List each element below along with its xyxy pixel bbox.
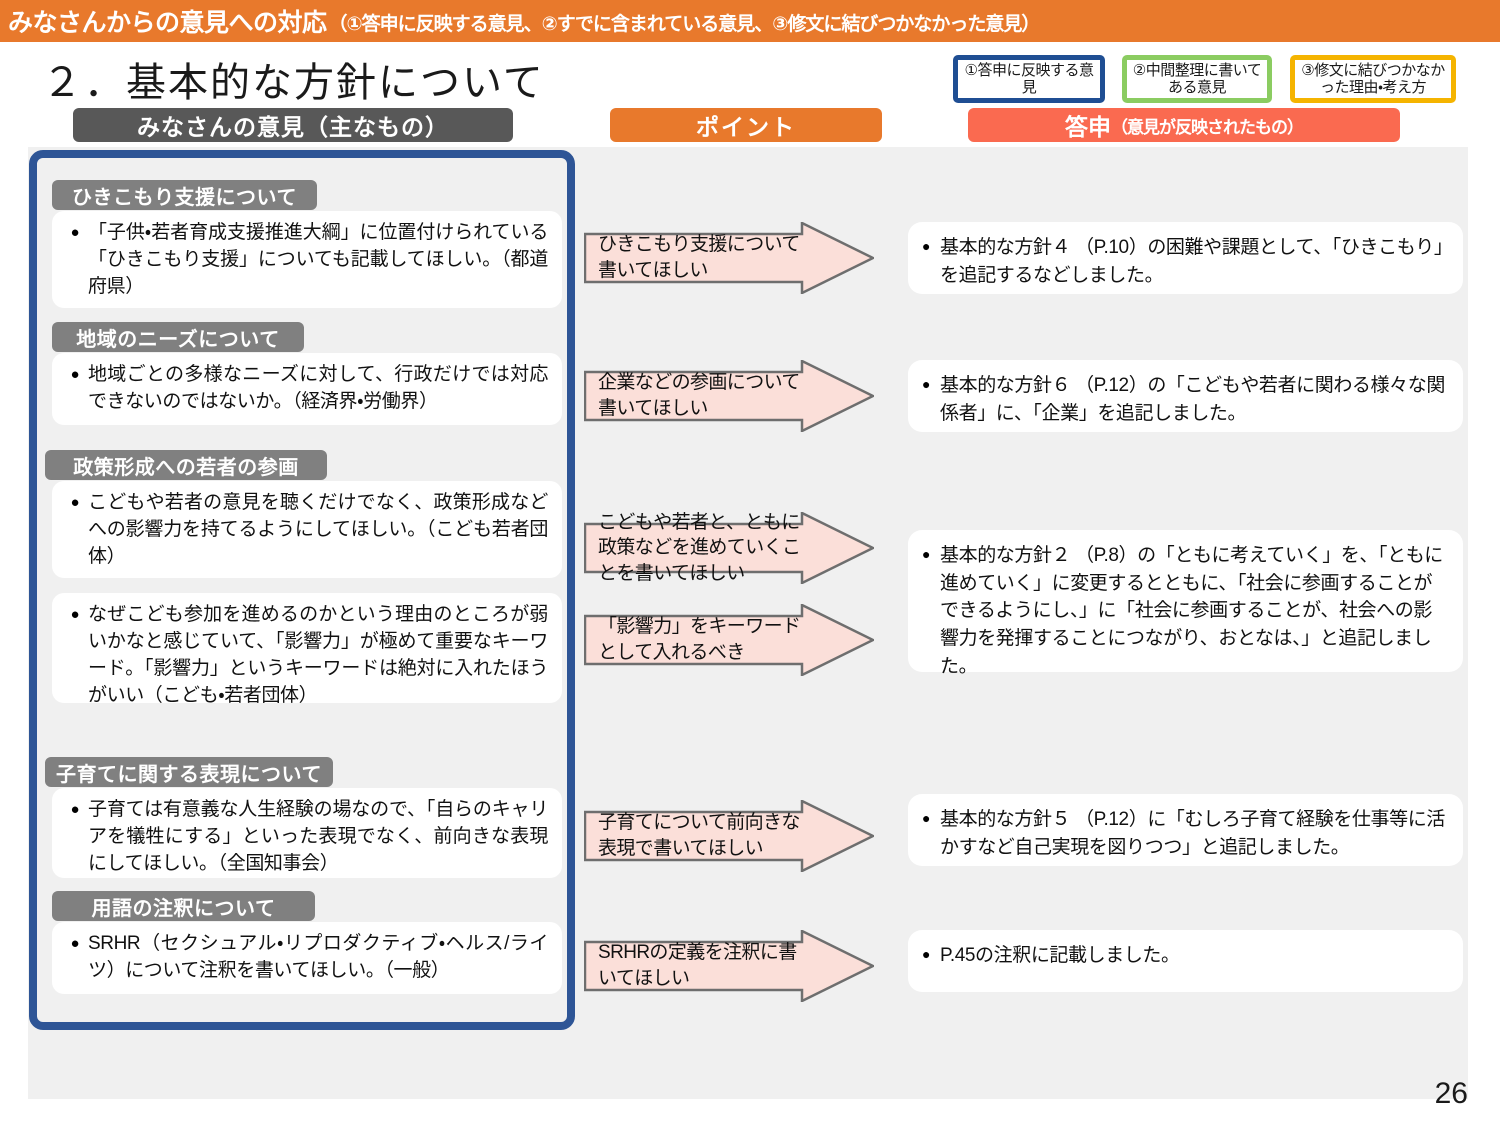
point-text: 企業などの参画について書いてほしい [584, 370, 874, 421]
slide-root: みなさんからの意見への対応 （①答申に反映する意見、②すでに含まれている意見、③… [0, 0, 1500, 1125]
point-text: こどもや若者と、ともに政策などを進めていくことを書いてほしい [584, 510, 874, 587]
point-arrow: 企業などの参画について書いてほしい [584, 360, 874, 432]
column-header-answer: 答申（意見が反映されたもの） [968, 108, 1400, 142]
section-label-terminology-notes: 用語の注釈について [52, 891, 315, 921]
answer-text: P.45の注釈に記載しました。 [940, 942, 1445, 970]
answer-text: 基本的な方針２ （P.8）の「ともに考えていく」を、「ともに進めていく」に変更す… [940, 542, 1445, 681]
legend-label: ②中間整理に書いてある意見 [1131, 62, 1263, 97]
page-number: 26 [1435, 1077, 1468, 1111]
point-arrow: ひきこもり支援について書いてほしい [584, 222, 874, 294]
point-text: 「影響力」をキーワードとして入れるべき [584, 614, 874, 665]
answer-text: 基本的な方針６ （P.12）の「こどもや若者に関わる様々な関係者」に、「企業」を… [940, 372, 1445, 427]
section-label-hikikomori: ひきこもり支援について [52, 180, 317, 210]
point-text: 子育てについて前向きな表現で書いてほしい [584, 810, 874, 861]
top-banner: みなさんからの意見への対応 （①答申に反映する意見、②すでに含まれている意見、③… [0, 0, 1500, 42]
answer-text: 基本的な方針５ （P.12）に「むしろ子育て経験を仕事等に活かすなど自己実現を図… [940, 806, 1445, 861]
opinion-text: 「子供・若者育成支援推進大綱」に位置付けられている「ひきこもり支援」についても記… [88, 220, 548, 301]
bullet-icon: ● [62, 490, 88, 514]
answer-card: ● P.45の注釈に記載しました。 [908, 930, 1463, 992]
answer-card: ● 基本的な方針５ （P.12）に「むしろ子育て経験を仕事等に活かすなど自己実現… [908, 794, 1463, 866]
point-arrow: 「影響力」をキーワードとして入れるべき [584, 604, 874, 676]
section-label-text: ひきこもり支援について [72, 181, 297, 210]
point-arrow: こどもや若者と、ともに政策などを進めていくことを書いてほしい [584, 512, 874, 584]
opinion-card: ● 地域ごとの多様なニーズに対して、行政だけでは対応できないのではないか。（経済… [52, 353, 562, 425]
section-label-text: 子育てに関する表現について [56, 758, 322, 787]
column-header-answer-label: 答申 [1065, 108, 1111, 142]
bullet-icon: ● [62, 602, 88, 626]
point-text: ひきこもり支援について書いてほしい [584, 232, 874, 283]
legend-item-not-adopted: ③修文に結びつかなかった理由・考え方 [1290, 55, 1456, 103]
bullet-icon: ● [62, 931, 88, 955]
section-label-text: 政策形成への若者の参画 [73, 451, 299, 480]
opinion-text: 子育ては有意義な人生経験の場なので、「自らのキャリアを犠牲にする」といった表現で… [88, 797, 548, 878]
legend-label: ③修文に結びつかなかった理由・考え方 [1299, 62, 1447, 97]
opinion-text: SRHR（セクシュアル・リプロダクティブ・ヘルス/ライツ）について注釈を書いてほ… [88, 931, 548, 985]
opinion-card: ● SRHR（セクシュアル・リプロダクティブ・ヘルス/ライツ）について注釈を書い… [52, 922, 562, 994]
section-label-regional-needs: 地域のニーズについて [52, 322, 304, 352]
column-header-answer-sublabel: （意見が反映されたもの） [1111, 113, 1303, 138]
column-header-opinions-label: みなさんの意見（主なもの） [137, 108, 449, 142]
opinion-card: ● 「子供・若者育成支援推進大綱」に位置付けられている「ひきこもり支援」について… [52, 211, 562, 308]
answer-card: ● 基本的な方針４ （P.10）の困難や課題として、「ひきこもり」を追記するなど… [908, 222, 1463, 294]
legend-item-reflected: ①答申に反映する意見 [953, 55, 1105, 103]
bullet-icon: ● [922, 542, 940, 566]
answer-card: ● 基本的な方針６ （P.12）の「こどもや若者に関わる様々な関係者」に、「企業… [908, 360, 1463, 432]
answer-text: 基本的な方針４ （P.10）の困難や課題として、「ひきこもり」を追記するなどしま… [940, 234, 1445, 289]
banner-title: みなさんからの意見への対応 [8, 3, 327, 39]
opinion-card: ● 子育ては有意義な人生経験の場なので、「自らのキャリアを犠牲にする」といった表… [52, 788, 562, 878]
answer-card: ● 基本的な方針２ （P.8）の「ともに考えていく」を、「ともに進めていく」に変… [908, 530, 1463, 672]
section-label-text: 地域のニーズについて [76, 323, 279, 352]
legend-item-already-included: ②中間整理に書いてある意見 [1122, 55, 1272, 103]
banner-subtitle: （①答申に反映する意見、②すでに含まれている意見、③修文に結びつかなかった意見） [329, 9, 1040, 36]
point-arrow: SRHRの定義を注釈に書いてほしい [584, 930, 874, 1002]
point-arrow: 子育てについて前向きな表現で書いてほしい [584, 800, 874, 872]
column-header-points-label: ポイント [696, 108, 796, 142]
bullet-icon: ● [922, 234, 940, 258]
column-header-opinions: みなさんの意見（主なもの） [73, 108, 513, 142]
section-label-text: 用語の注釈について [92, 892, 276, 921]
bullet-icon: ● [922, 372, 940, 396]
bullet-icon: ● [62, 362, 88, 386]
bullet-icon: ● [62, 220, 88, 244]
column-header-points: ポイント [610, 108, 882, 142]
page-title: ２．基本的な方針について [42, 50, 545, 108]
opinion-text: 地域ごとの多様なニーズに対して、行政だけでは対応できないのではないか。（経済界・… [88, 362, 548, 416]
opinion-text: こどもや若者の意見を聴くだけでなく、政策形成などへの影響力を持てるようにしてほし… [88, 490, 548, 571]
point-text: SRHRの定義を注釈に書いてほしい [584, 940, 874, 991]
legend-label: ①答申に反映する意見 [962, 62, 1096, 97]
opinion-text: なぜこども参加を進めるのかという理由のところが弱いかなと感じていて、「影響力」が… [88, 602, 548, 710]
bullet-icon: ● [922, 806, 940, 830]
bullet-icon: ● [62, 797, 88, 821]
section-label-childrearing-expression: 子育てに関する表現について [45, 757, 333, 787]
section-label-youth-participation: 政策形成への若者の参画 [45, 450, 327, 480]
opinion-card: ● こどもや若者の意見を聴くだけでなく、政策形成などへの影響力を持てるようにして… [52, 481, 562, 578]
opinion-card: ● なぜこども参加を進めるのかという理由のところが弱いかなと感じていて、「影響力… [52, 593, 562, 703]
bullet-icon: ● [922, 942, 940, 966]
